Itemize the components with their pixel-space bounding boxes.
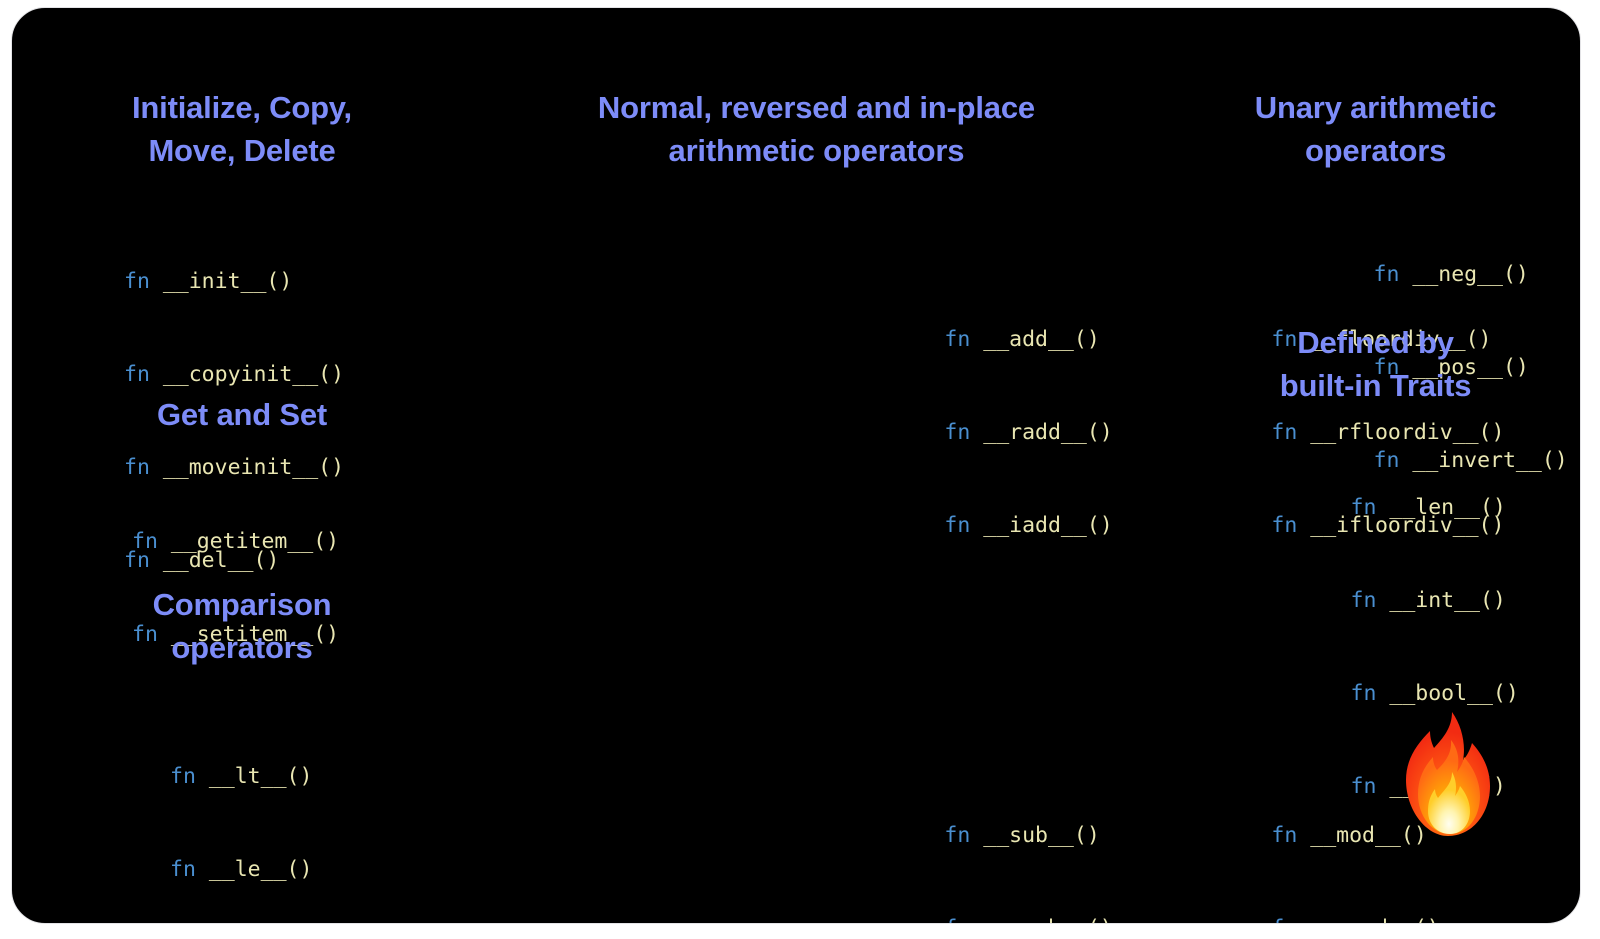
- heading-get-and-set: Get and Set: [52, 393, 432, 436]
- function-name: __iadd__(): [983, 513, 1112, 538]
- heading-line: arithmetic operators: [476, 129, 1156, 172]
- function-name: __le__(): [209, 857, 313, 882]
- keyword-fn: fn: [1374, 262, 1400, 287]
- column-unary-and-traits: Unary arithmetic operators fn __neg__() …: [1166, 8, 1580, 923]
- function-name: __neg__(): [1412, 262, 1529, 287]
- keyword-fn: fn: [944, 513, 970, 538]
- heading-line: Unary arithmetic: [1176, 86, 1576, 129]
- code-group-sub: fn __sub__() fn __rsub__() fn __isub__(): [944, 758, 1164, 924]
- code-line: fn __init__(): [124, 266, 344, 297]
- function-name: __copyinit__(): [163, 362, 344, 387]
- heading-defined-by-builtin-traits: Defined by built-in Traits: [1176, 321, 1576, 407]
- keyword-fn: fn: [944, 420, 970, 445]
- heading-initialize-copy-move-delete: Initialize, Copy, Move, Delete: [52, 86, 432, 172]
- code-list-arithmetic-a: fn __add__() fn __radd__() fn __iadd__()…: [944, 200, 1164, 924]
- code-line: fn __bool__(): [1351, 678, 1519, 709]
- function-name: __rsub__(): [983, 916, 1112, 924]
- keyword-fn: fn: [124, 269, 150, 294]
- heading-line: Initialize, Copy,: [52, 86, 432, 129]
- code-line: fn __int__(): [1351, 585, 1519, 616]
- keyword-fn: fn: [1351, 588, 1377, 613]
- columns-container: Initialize, Copy, Move, Delete fn __init…: [12, 8, 1580, 923]
- code-line: fn __iadd__(): [944, 510, 1164, 541]
- keyword-fn: fn: [944, 327, 970, 352]
- function-name: __add__(): [983, 327, 1100, 352]
- keyword-fn: fn: [1351, 495, 1377, 520]
- function-name: __int__(): [1389, 588, 1506, 613]
- keyword-fn: fn: [124, 362, 150, 387]
- keyword-fn: fn: [944, 823, 970, 848]
- keyword-fn: fn: [170, 857, 196, 882]
- code-line: fn __len__(): [1351, 492, 1519, 523]
- function-name: __len__(): [1389, 495, 1506, 520]
- heading-line: operators: [52, 626, 432, 669]
- code-line: fn __lt__(): [170, 761, 312, 792]
- function-name: __radd__(): [983, 420, 1112, 445]
- code-line: fn __neg__(): [1374, 259, 1568, 290]
- code-line: fn __copyinit__(): [124, 359, 344, 390]
- code-line: fn __rsub__(): [944, 913, 1164, 924]
- heading-unary-arithmetic-operators: Unary arithmetic operators: [1176, 86, 1576, 172]
- heading-line: Normal, reversed and in-place: [476, 86, 1156, 129]
- heading-line: operators: [1176, 129, 1576, 172]
- keyword-fn: fn: [1351, 774, 1377, 799]
- keyword-fn: fn: [944, 916, 970, 924]
- code-group-add: fn __add__() fn __radd__() fn __iadd__(): [944, 262, 1164, 603]
- heading-comparison-operators: Comparison operators: [52, 583, 432, 669]
- column-initialize-get-comparison: Initialize, Copy, Move, Delete fn __init…: [12, 8, 466, 923]
- code-line: fn __le__(): [170, 854, 312, 885]
- heading-line: Comparison: [52, 583, 432, 626]
- heading-line: Get and Set: [52, 393, 432, 436]
- function-name: __lt__(): [209, 764, 313, 789]
- code-list-comparison: fn __lt__() fn __le__() fn __eq__() fn _…: [170, 699, 312, 924]
- code-line: fn __getitem__(): [132, 526, 339, 557]
- code-line: fn __radd__(): [944, 417, 1164, 448]
- heading-line: built-in Traits: [1176, 364, 1576, 407]
- function-name: __getitem__(): [171, 529, 339, 554]
- heading-normal-reversed-inplace: Normal, reversed and in-place arithmetic…: [476, 86, 1156, 172]
- keyword-fn: fn: [132, 529, 158, 554]
- heading-line: Defined by: [1176, 321, 1576, 364]
- keyword-fn: fn: [170, 764, 196, 789]
- column-arithmetic-operators: Normal, reversed and in-place arithmetic…: [466, 8, 1165, 923]
- cheatsheet-card: Initialize, Copy, Move, Delete fn __init…: [11, 7, 1581, 924]
- fire-icon: [1390, 710, 1500, 842]
- function-name: __sub__(): [983, 823, 1100, 848]
- function-name: __init__(): [163, 269, 292, 294]
- group-spacer: [944, 665, 1164, 696]
- heading-line: Move, Delete: [52, 129, 432, 172]
- keyword-fn: fn: [1351, 681, 1377, 706]
- function-name: __bool__(): [1389, 681, 1518, 706]
- code-line: fn __add__(): [944, 324, 1164, 355]
- code-line: fn __sub__(): [944, 820, 1164, 851]
